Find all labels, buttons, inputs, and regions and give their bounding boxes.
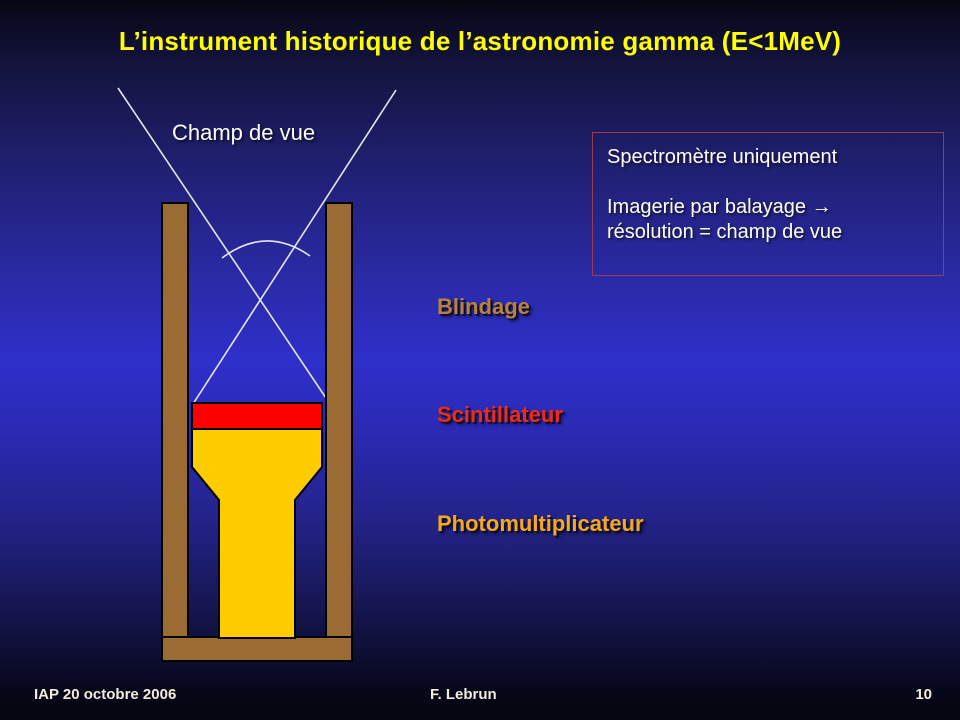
slide-footer: IAP 20 octobre 2006 F. Lebrun 10 bbox=[0, 674, 960, 720]
shield-base bbox=[162, 637, 352, 661]
callout-line-1: Spectromètre uniquement bbox=[607, 145, 943, 170]
photomultiplier-tube bbox=[192, 428, 322, 638]
label-scintillator: Scintillateur bbox=[437, 402, 563, 428]
annotation-callout-box: Spectromètre uniquement Imagerie par bal… bbox=[592, 132, 944, 276]
footer-page-number: 10 bbox=[915, 686, 932, 703]
instrument-diagram bbox=[0, 0, 960, 720]
footer-date: IAP 20 octobre 2006 bbox=[34, 686, 176, 703]
callout-line-2: Imagerie par balayage → bbox=[607, 195, 943, 220]
callout-spacer bbox=[607, 170, 943, 195]
field-of-view-label: Champ de vue bbox=[172, 120, 315, 146]
label-photomultiplier: Photomultiplicateur bbox=[437, 511, 644, 537]
callout-line-3: résolution = champ de vue bbox=[607, 220, 943, 245]
label-shielding: Blindage bbox=[437, 294, 530, 320]
footer-author: F. Lebrun bbox=[430, 686, 497, 703]
shield-wall-right bbox=[326, 203, 352, 638]
slide-canvas: L’instrument historique de l’astronomie … bbox=[0, 0, 960, 720]
scintillator-crystal bbox=[192, 403, 322, 429]
shield-wall-left bbox=[162, 203, 188, 638]
